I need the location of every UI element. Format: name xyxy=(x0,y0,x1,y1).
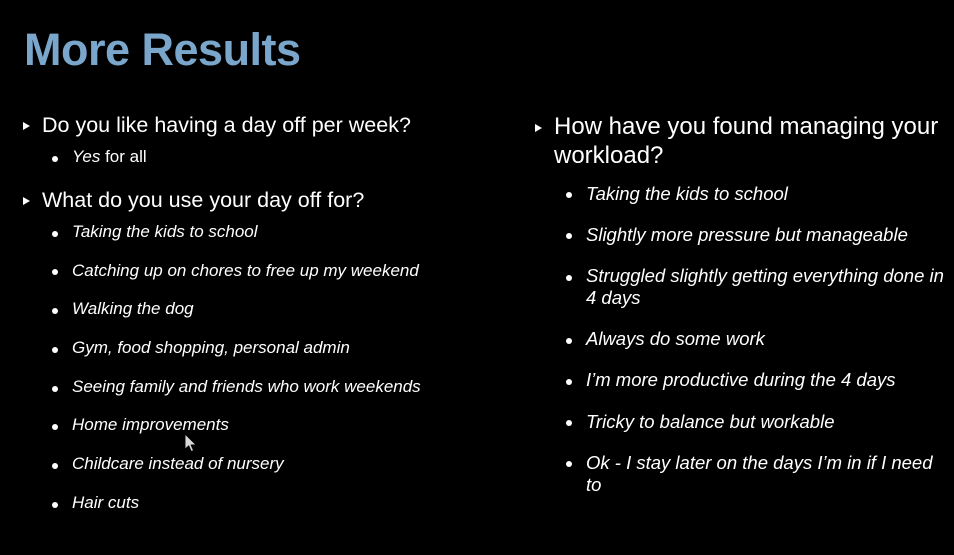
bullet-dot-icon xyxy=(566,338,572,344)
list-item: Slightly more pressure but manageable xyxy=(558,224,952,246)
list-item: Gym, food shopping, personal admin xyxy=(44,338,490,358)
list-item: Taking the kids to school xyxy=(558,183,952,205)
question-heading: How have you found managing your workloa… xyxy=(532,112,952,171)
list-item: Struggled slightly getting everything do… xyxy=(558,265,952,309)
answer-text: Tricky to balance but workable xyxy=(586,411,835,432)
answer-text: Catching up on chores to free up my week… xyxy=(72,261,419,280)
bullet-dot-icon xyxy=(566,192,572,198)
answer-list: Taking the kids to school Slightly more … xyxy=(532,183,952,497)
bullet-dot-icon xyxy=(566,379,572,385)
bullet-dot-icon xyxy=(52,386,58,392)
question-block: Do you like having a day off per week? Y… xyxy=(20,112,490,167)
list-item: Ok - I stay later on the days I’m in if … xyxy=(558,452,952,496)
bullet-dot-icon xyxy=(52,308,58,314)
bullet-dot-icon xyxy=(52,502,58,508)
list-item: Tricky to balance but workable xyxy=(558,411,952,433)
bullet-dot-icon xyxy=(52,463,58,469)
question-text: How have you found managing your workloa… xyxy=(554,113,938,169)
answer-list: Yes for all xyxy=(20,147,490,167)
list-item: Seeing family and friends who work weeke… xyxy=(44,377,490,397)
answer-text-plain: for all xyxy=(100,147,146,166)
triangle-right-icon xyxy=(23,197,30,205)
list-item: Walking the dog xyxy=(44,299,490,319)
answer-text: Home improvements xyxy=(72,415,229,434)
bullet-dot-icon xyxy=(52,269,58,275)
answer-text: Slightly more pressure but manageable xyxy=(586,224,908,245)
question-block: What do you use your day off for? Taking… xyxy=(20,187,490,513)
answer-text: Taking the kids to school xyxy=(72,222,258,241)
question-heading: What do you use your day off for? xyxy=(20,187,490,214)
question-heading: Do you like having a day off per week? xyxy=(20,112,490,139)
slide-canvas: More Results Do you like having a day of… xyxy=(0,0,954,555)
answer-text: Walking the dog xyxy=(72,299,194,318)
list-item: Yes for all xyxy=(44,147,490,167)
answer-text: Struggled slightly getting everything do… xyxy=(586,265,944,308)
right-column: How have you found managing your workloa… xyxy=(532,112,952,496)
answer-text: Ok - I stay later on the days I’m in if … xyxy=(586,452,933,495)
answer-text: Taking the kids to school xyxy=(586,183,788,204)
bullet-dot-icon xyxy=(566,461,572,467)
list-item: Catching up on chores to free up my week… xyxy=(44,261,490,281)
bullet-dot-icon xyxy=(566,275,572,281)
answer-text: Gym, food shopping, personal admin xyxy=(72,338,350,357)
question-text: Do you like having a day off per week? xyxy=(42,113,411,137)
list-item: Home improvements xyxy=(44,415,490,435)
answer-text: Childcare instead of nursery xyxy=(72,454,284,473)
bullet-dot-icon xyxy=(52,347,58,353)
answer-list: Taking the kids to school Catching up on… xyxy=(20,222,490,513)
answer-text-emphasis: Yes xyxy=(72,147,100,166)
answer-text: Seeing family and friends who work weeke… xyxy=(72,377,421,396)
answer-text: Hair cuts xyxy=(72,493,139,512)
list-item: Always do some work xyxy=(558,328,952,350)
bullet-dot-icon xyxy=(52,424,58,430)
list-item: Hair cuts xyxy=(44,493,490,513)
triangle-right-icon xyxy=(535,124,542,132)
bullet-dot-icon xyxy=(566,233,572,239)
list-item: I’m more productive during the 4 days xyxy=(558,369,952,391)
question-text: What do you use your day off for? xyxy=(42,188,364,212)
bullet-dot-icon xyxy=(52,231,58,237)
list-item: Taking the kids to school xyxy=(44,222,490,242)
bullet-dot-icon xyxy=(52,156,58,162)
page-title: More Results xyxy=(24,26,301,73)
question-block: How have you found managing your workloa… xyxy=(532,112,952,496)
answer-text: I’m more productive during the 4 days xyxy=(586,369,896,390)
left-column: Do you like having a day off per week? Y… xyxy=(20,112,490,513)
bullet-dot-icon xyxy=(566,420,572,426)
answer-text: Always do some work xyxy=(586,328,765,349)
triangle-right-icon xyxy=(23,122,30,130)
list-item: Childcare instead of nursery xyxy=(44,454,490,474)
